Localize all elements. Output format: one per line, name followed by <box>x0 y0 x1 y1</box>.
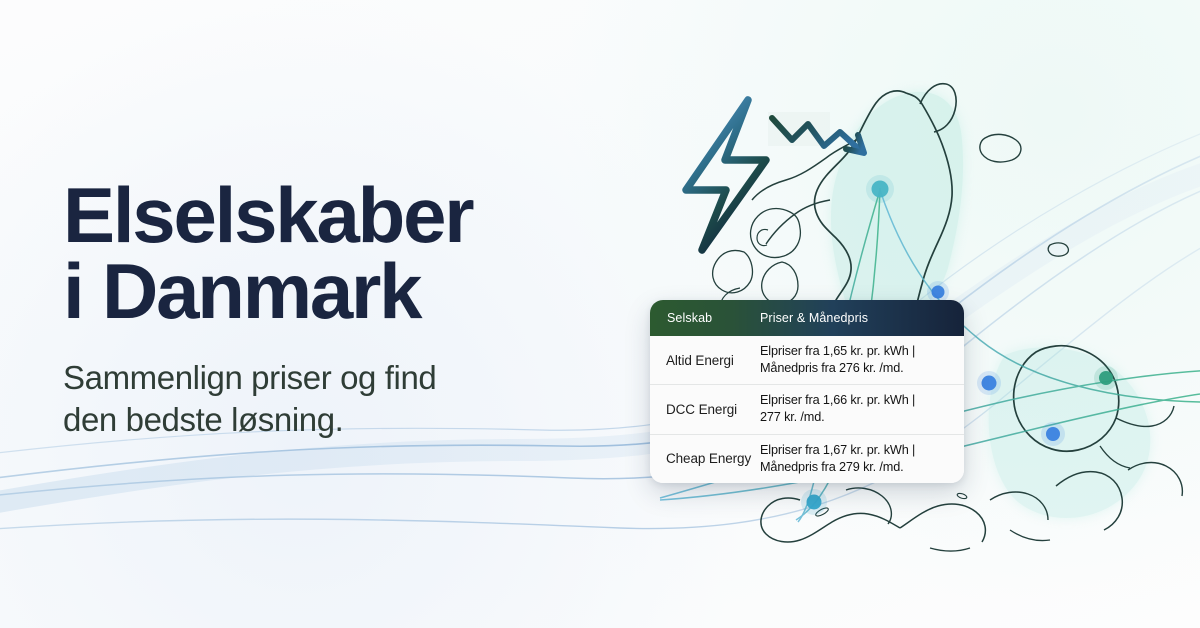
cell-pricing-details: Elpriser fra 1,66 kr. pr. kWh | 277 kr. … <box>760 392 964 426</box>
page-title: Elselskaber i Danmark <box>63 178 623 329</box>
price-comparison-card[interactable]: Selskab Priser & Månedpris Altid Energi … <box>650 300 964 483</box>
cell-company-name: DCC Energi <box>650 402 760 417</box>
cell-pricing-details: Elpriser fra 1,67 kr. pr. kWh | Månedpri… <box>760 442 964 476</box>
hero-copy: Elselskaber i Danmark Sammenlign priser … <box>63 178 623 440</box>
page-subtitle: Sammenlign priser og find den bedste løs… <box>63 357 623 440</box>
column-header-pricing: Priser & Månedpris <box>760 311 964 325</box>
cell-company-name: Altid Energi <box>650 353 760 368</box>
table-body: Altid Energi Elpriser fra 1,65 kr. pr. k… <box>650 336 964 483</box>
table-row[interactable]: Cheap Energy Elpriser fra 1,67 kr. pr. k… <box>650 434 964 483</box>
cell-pricing-details: Elpriser fra 1,65 kr. pr. kWh | Månedpri… <box>760 343 964 377</box>
banner-canvas: Elselskaber i Danmark Sammenlign priser … <box>0 0 1200 628</box>
table-header-row: Selskab Priser & Månedpris <box>650 300 964 336</box>
cell-company-name: Cheap Energy <box>650 451 760 466</box>
column-header-company: Selskab <box>650 311 760 325</box>
table-row[interactable]: DCC Energi Elpriser fra 1,66 kr. pr. kWh… <box>650 384 964 433</box>
table-row[interactable]: Altid Energi Elpriser fra 1,65 kr. pr. k… <box>650 336 964 384</box>
